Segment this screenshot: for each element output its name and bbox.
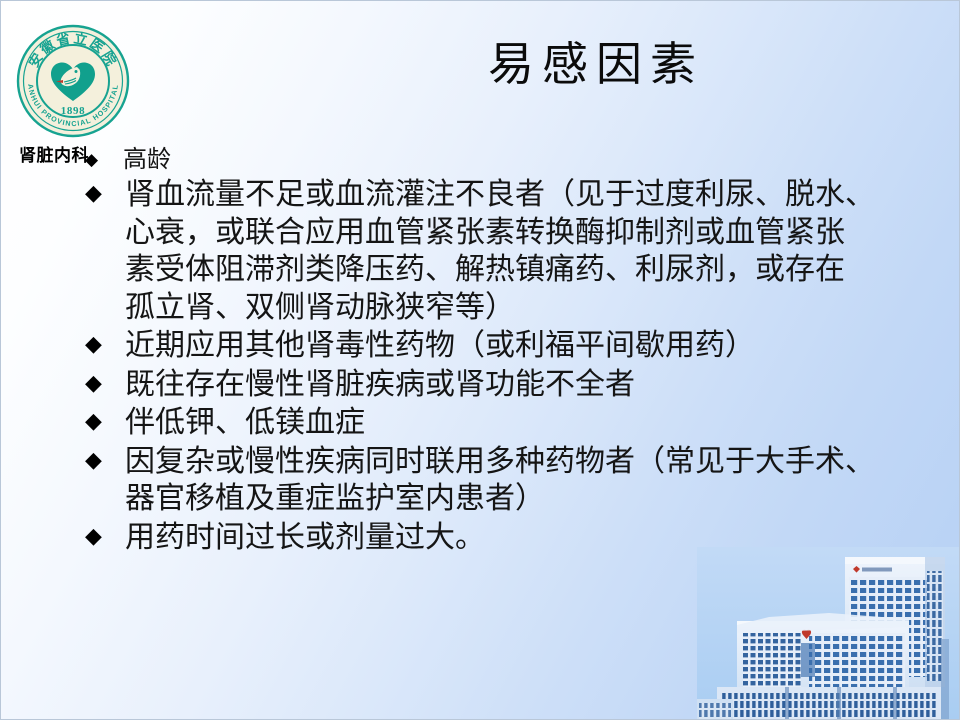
- list-item: ◆ 近期应用其他肾毒性药物（或利福平间歇用药）: [85, 327, 953, 365]
- page-title: 易感因素: [431, 41, 761, 89]
- list-item-text: 既往存在慢性肾脏疾病或肾功能不全者: [125, 366, 953, 404]
- department-label: 肾脏内科: [19, 141, 89, 166]
- diamond-bullet-icon: ◆: [85, 404, 125, 432]
- list-item: ◆ 既往存在慢性肾脏疾病或肾功能不全者: [85, 366, 953, 404]
- slide-canvas: 安徽省立医院 ANHUI PROVINCIAL HOSPITAL 1898 肾脏…: [0, 0, 960, 720]
- hospital-logo-icon: 安徽省立医院 ANHUI PROVINCIAL HOSPITAL 1898: [15, 23, 131, 139]
- diamond-bullet-icon: ◆: [85, 519, 125, 547]
- list-item: ◆ 高龄: [85, 147, 953, 174]
- svg-text:1898: 1898: [61, 105, 85, 117]
- hospital-logo: 安徽省立医院 ANHUI PROVINCIAL HOSPITAL 1898: [15, 23, 131, 139]
- list-item-text: 肾血流量不足或血流灌注不良者（见于过度利尿、脱水、 心衰，或联合应用血管紧张素转…: [125, 176, 953, 326]
- diamond-bullet-icon: ◆: [85, 366, 125, 394]
- diamond-bullet-icon: ◆: [85, 443, 125, 471]
- diamond-bullet-icon: ◆: [85, 327, 125, 355]
- list-item-text: 因复杂或慢性疾病同时联用多种药物者（常见于大手术、 器官移植及重症监护室内患者）: [125, 443, 953, 518]
- list-item: ◆ 肾血流量不足或血流灌注不良者（见于过度利尿、脱水、 心衰，或联合应用血管紧张…: [85, 176, 953, 326]
- list-item: ◆ 伴低钾、低镁血症: [85, 404, 953, 442]
- hospital-building-photo: [697, 547, 959, 719]
- list-item-text: 高龄: [123, 147, 953, 174]
- list-item: ◆ 因复杂或慢性疾病同时联用多种药物者（常见于大手术、 器官移植及重症监护室内患…: [85, 443, 953, 518]
- diamond-bullet-icon: ◆: [85, 176, 125, 204]
- hospital-building-image: [697, 547, 959, 719]
- list-item-text: 近期应用其他肾毒性药物（或利福平间歇用药）: [125, 327, 953, 365]
- bullet-list: ◆ 高龄 ◆ 肾血流量不足或血流灌注不良者（见于过度利尿、脱水、 心衰，或联合应…: [85, 147, 953, 557]
- diamond-bullet-icon: ◆: [85, 147, 123, 168]
- list-item-text: 伴低钾、低镁血症: [125, 404, 953, 442]
